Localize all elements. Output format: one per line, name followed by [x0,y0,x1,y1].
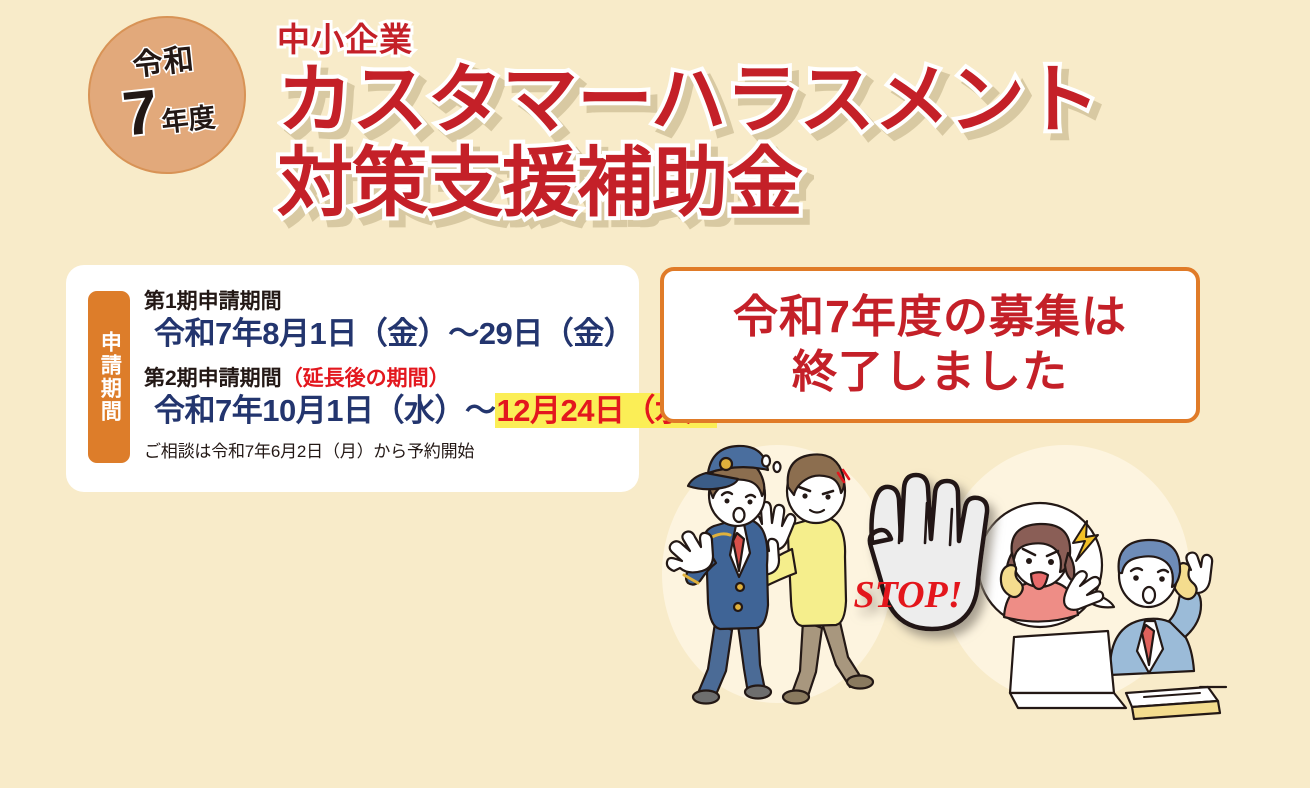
phase2-heading-row: 第2期申請期間（延長後の期間） [144,366,625,392]
phase2-heading: 第2期申請期間 [144,367,282,390]
badge-era-label: 令和 [131,45,196,81]
title-block: 中小企業 カスタマーハラスメント 対策支援補助金 [277,22,1177,223]
phase1-date: 令和7年8月1日（金）〜29日（金） [154,315,625,353]
illustration-svg: STOP! [640,425,1240,725]
application-period-body: 第1期申請期間 令和7年8月1日（金）〜29日（金） 第2期申請期間（延長後の期… [144,289,625,463]
title-eyebrow: 中小企業 [277,22,1177,59]
notice-line-1: 令和7年度の募集は [733,290,1127,345]
title-line-2: 対策支援補助金 [277,144,1177,223]
badge-year-number: 7 [120,81,161,146]
scene-phone-harassment [978,503,1226,719]
notice-line-2: 終了しました [792,345,1068,400]
figure-office-worker [1110,540,1212,675]
stop-hand-icon: STOP! [853,475,987,629]
application-period-tab-label: 申請期間 [88,291,130,463]
phase2-date-prefix: 令和7年10月1日（水）〜 [154,393,495,428]
stop-label: STOP! [853,574,962,616]
title-line-1: カスタマーハラスメント [277,61,1177,140]
illustration-group: STOP! [640,425,1240,725]
fiscal-year-badge: 令和 7 年度 [80,8,254,182]
application-period-card: 申請期間 第1期申請期間 令和7年8月1日（金）〜29日（金） 第2期申請期間（… [66,265,639,492]
phase1-heading: 第1期申請期間 [144,289,625,315]
phase2-date: 令和7年10月1日（水）〜12月24日（水） [154,392,625,430]
scene-customer-harassing-staff [667,446,873,704]
phase2-heading-note: （延長後の期間） [282,367,450,390]
badge-nendo-label: 年度 [160,104,217,136]
consultation-note: ご相談は令和7年6月2日（月）から予約開始 [144,441,625,463]
recruitment-closed-notice: 令和7年度の募集は 終了しました [660,267,1200,423]
figure-uniformed-staff [667,446,781,704]
banner-root: 令和 7 年度 中小企業 カスタマーハラスメント 対策支援補助金 申請期間 第1… [0,0,1310,788]
badge-year-line: 7 年度 [120,75,217,146]
